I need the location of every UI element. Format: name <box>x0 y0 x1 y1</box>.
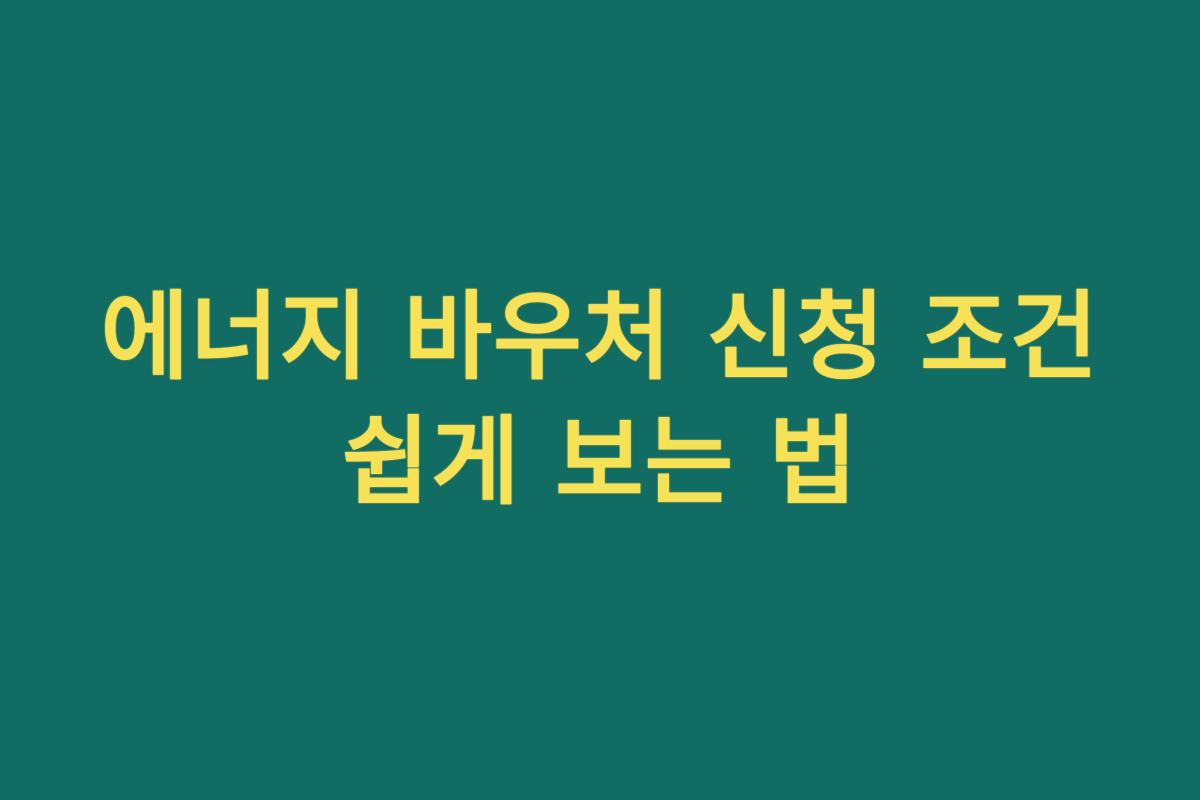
poster-canvas: 에너지 바우처 신청 조건 쉽게 보는 법 <box>0 0 1200 800</box>
headline-block: 에너지 바우처 신청 조건 쉽게 보는 법 <box>0 275 1200 525</box>
headline-line-2: 쉽게 보는 법 <box>40 400 1160 525</box>
headline-line-1: 에너지 바우처 신청 조건 <box>40 275 1160 400</box>
